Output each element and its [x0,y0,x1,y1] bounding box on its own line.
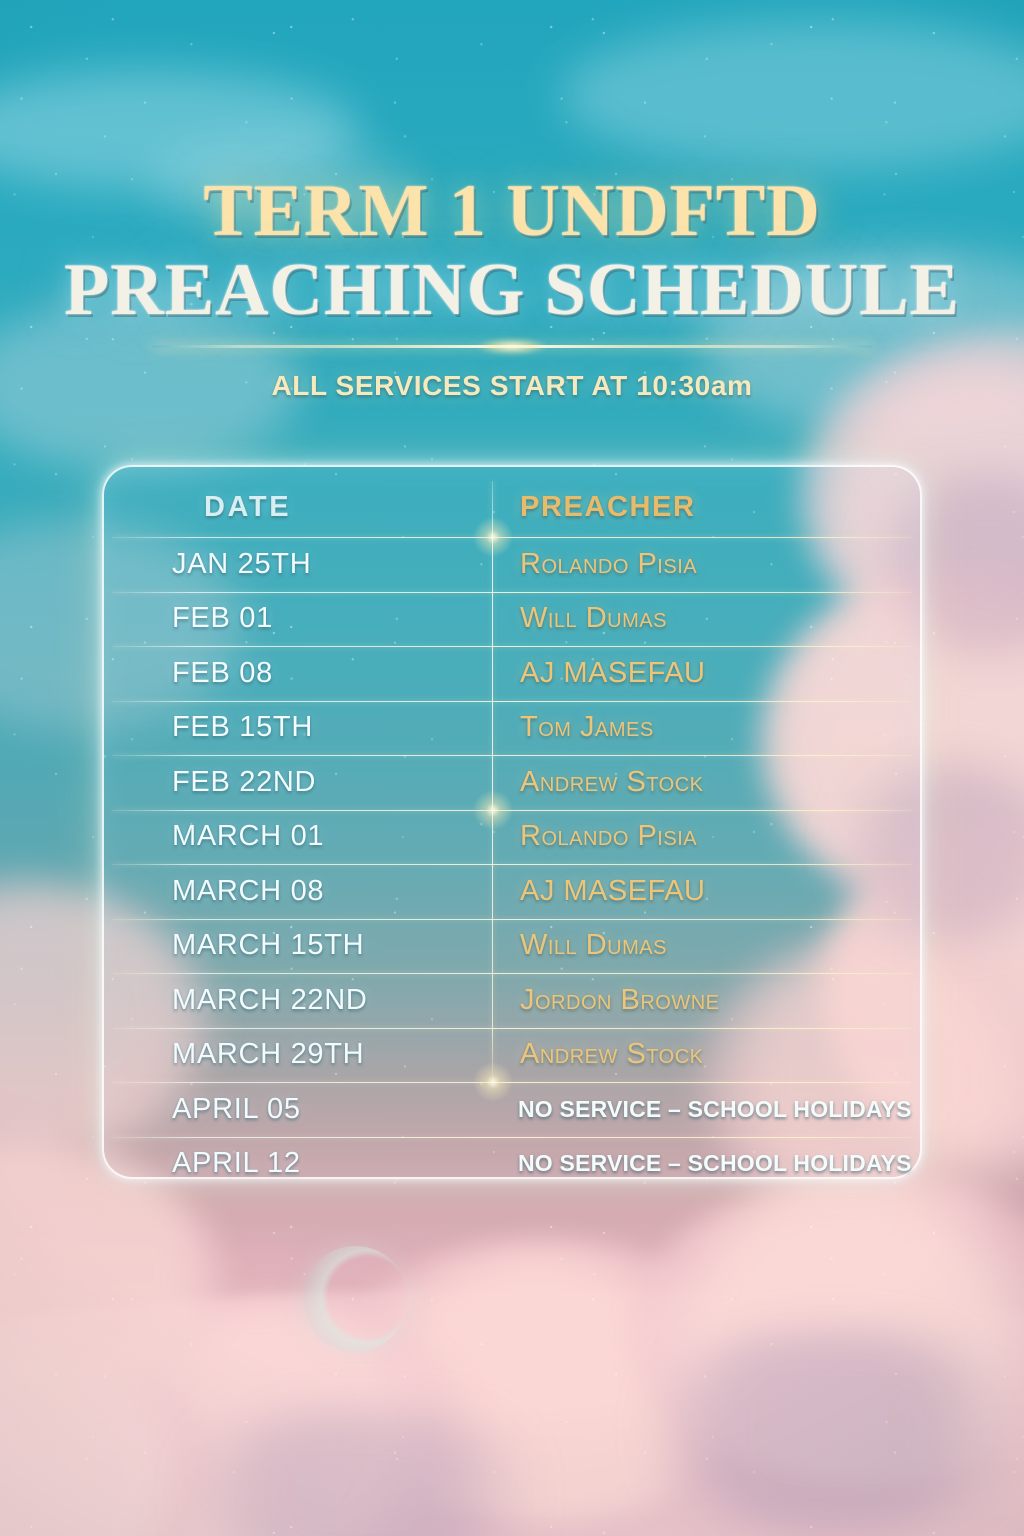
table-row: APRIL 05NO SERVICE – SCHOOL HOLIDAYS [104,1082,920,1137]
cell-date: MARCH 01 [104,820,492,853]
cell-date: MARCH 08 [104,875,492,908]
table-row: MARCH 01Rolando Pisia [104,810,920,865]
cell-preacher: Rolando Pisia [492,820,920,853]
schedule-table-card: DATEPREACHERJAN 25THRolando PisiaFEB 01W… [102,465,922,1179]
poster-canvas: TERM 1 UNDFTD PREACHING SCHEDULE ALL SER… [0,0,1024,1536]
table-row: MARCH 15THWill Dumas [104,919,920,974]
cell-date: APRIL 12 [104,1147,492,1180]
table-row: FEB 01Will Dumas [104,592,920,647]
column-divider [492,481,493,1082]
subtitle-service-time: ALL SERVICES START AT 10:30am [0,370,1024,402]
cell-date: FEB 01 [104,602,492,635]
table-row: MARCH 29THAndrew Stock [104,1028,920,1083]
table-row: FEB 15THTom James [104,701,920,756]
poster-heading: TERM 1 UNDFTD PREACHING SCHEDULE [0,176,1024,329]
cell-date: FEB 22ND [104,766,492,799]
title-line-1: TERM 1 UNDFTD [0,176,1024,247]
table-row: JAN 25THRolando Pisia [104,537,920,592]
table-row: FEB 22NDAndrew Stock [104,755,920,810]
table-row: FEB 08AJ MASEFAU [104,646,920,701]
cell-no-service: NO SERVICE – SCHOOL HOLIDAYS [492,1096,920,1123]
cell-no-service: NO SERVICE – SCHOOL HOLIDAYS [492,1150,920,1177]
schedule-table: DATEPREACHERJAN 25THRolando PisiaFEB 01W… [104,467,920,1177]
cell-preacher: Will Dumas [492,602,920,635]
cell-preacher: Will Dumas [492,929,920,962]
cell-preacher: AJ MASEFAU [492,875,920,908]
column-header-date: DATE [104,491,492,524]
cell-preacher: Jordon Browne [492,984,920,1017]
cell-preacher: AJ MASEFAU [492,657,920,690]
column-header-preacher: PREACHER [492,491,920,524]
cell-preacher: Rolando Pisia [492,548,920,581]
poster-content: TERM 1 UNDFTD PREACHING SCHEDULE ALL SER… [0,0,1024,1536]
cell-date: MARCH 15TH [104,929,492,962]
glow-divider [152,345,872,348]
cell-date: MARCH 29TH [104,1038,492,1071]
cell-date: APRIL 05 [104,1093,492,1126]
cell-date: FEB 08 [104,657,492,690]
cell-date: JAN 25TH [104,548,492,581]
table-row: MARCH 22NDJordon Browne [104,973,920,1028]
table-row: APRIL 12NO SERVICE – SCHOOL HOLIDAYS [104,1137,920,1192]
cell-date: FEB 15TH [104,711,492,744]
cell-date: MARCH 22ND [104,984,492,1017]
cell-preacher: Andrew Stock [492,1038,920,1071]
table-row: MARCH 08AJ MASEFAU [104,864,920,919]
cell-preacher: Andrew Stock [492,766,920,799]
table-header-row: DATEPREACHER [104,477,920,537]
cell-preacher: Tom James [492,711,920,744]
title-line-2: PREACHING SCHEDULE [0,253,1024,328]
